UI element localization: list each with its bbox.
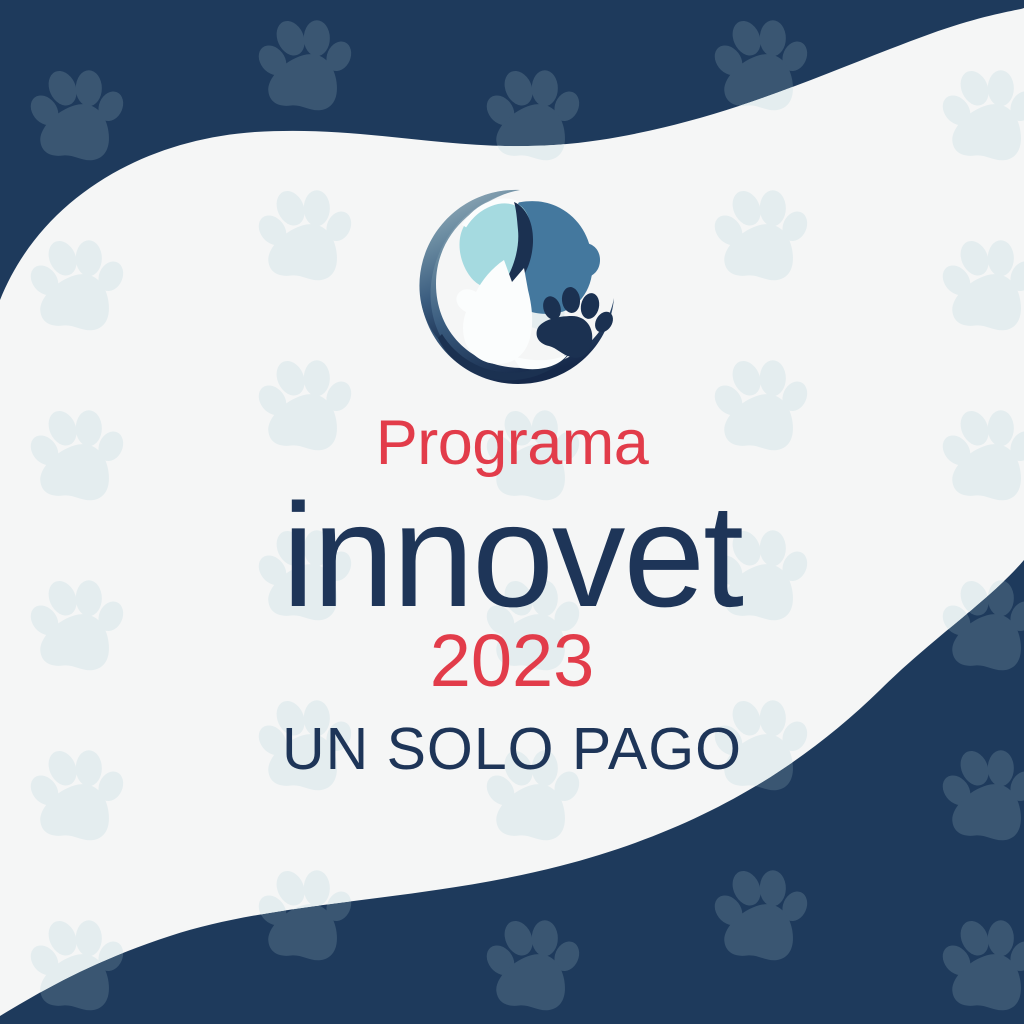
promo-graphic: Programa innovet 2023 UN SOLO PAGO	[0, 0, 1024, 1024]
background-artwork	[0, 0, 1024, 1024]
wave-blob	[0, 0, 1024, 1024]
